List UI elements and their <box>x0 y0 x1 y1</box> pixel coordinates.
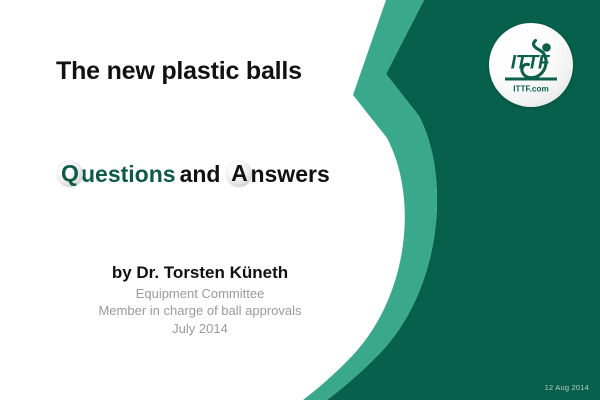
ball-letter-a: A <box>231 162 248 185</box>
ping-pong-ball-a-icon: A <box>226 161 252 187</box>
answers-word-remainder: nswers <box>250 163 329 186</box>
slide-canvas: The new plastic balls Q uestions and A n… <box>0 0 600 400</box>
questions-word-remainder: uestions <box>81 163 176 186</box>
questions-and-answers-line: Q uestions and A nswers <box>57 161 330 187</box>
table-line <box>505 78 557 81</box>
author-date-line: July 2014 <box>0 320 400 337</box>
date-stamp: 12 Aug 2014 <box>545 383 589 392</box>
page-title: The new plastic balls <box>56 58 376 86</box>
author-role-line-2: Member in charge of ball approvals <box>0 302 400 319</box>
ball-letter-q: Q <box>61 162 79 185</box>
ittf-domain-text: ITTF.com <box>513 85 548 94</box>
ittf-wordmark: ITTF <box>511 53 551 74</box>
ping-pong-ball-q-icon: Q <box>57 161 83 187</box>
table-tennis-ball-icon <box>542 43 551 52</box>
ittf-logo: ITTF ITTF.com <box>489 23 573 107</box>
author-role-line-1: Equipment Committee <box>0 285 400 302</box>
conjunction-and: and <box>176 163 227 186</box>
author-block: by Dr. Torsten Küneth Equipment Committe… <box>0 262 400 337</box>
ittf-logo-graphic: ITTF ITTF.com <box>489 23 573 107</box>
author-name: by Dr. Torsten Küneth <box>0 262 400 283</box>
